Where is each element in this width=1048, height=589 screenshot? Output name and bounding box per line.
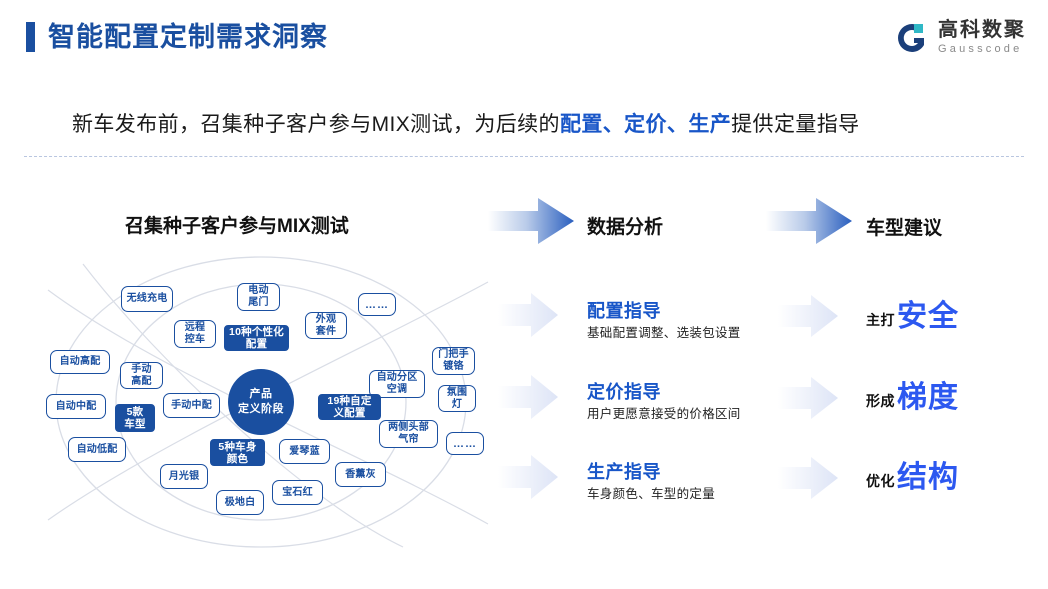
analysis-sub-2: 用户更愿意接受的价格区间 [587, 405, 741, 423]
diagram-node: 19种自定义配置 [318, 394, 381, 420]
diagram-node: 10种个性化配置 [224, 325, 289, 351]
suggestion-prefix-1: 主打 [866, 310, 895, 330]
diagram-node-line: 自动低配 [77, 444, 118, 456]
suggestion-prefix-2: 形成 [866, 391, 895, 411]
analysis-title-3: 生产指导 [587, 461, 715, 483]
diagram-center-node: 产品 定义阶段 [228, 369, 294, 435]
diagram-node: 自动中配 [46, 394, 106, 419]
subtitle-part1: 新车发布前，召集种子客户参与MIX测试，为后续的 [72, 113, 560, 136]
diagram-node-line: 自动高配 [60, 356, 101, 368]
subtitle: 新车发布前，召集种子客户参与MIX测试，为后续的配置、定价、生产提供定量指导 [72, 108, 860, 138]
diagram-node: 手动中配 [163, 393, 220, 418]
flow-arrow-right-1-icon [778, 292, 838, 340]
diagram-node-line: 手动 [131, 364, 151, 376]
diagram-node: 5款车型 [115, 404, 155, 432]
diagram-node-line: 5种车身 [218, 441, 256, 453]
suggestion-block-1: 主打 安全 [866, 300, 959, 333]
diagram-node: 门把手镀铬 [432, 347, 475, 375]
diagram-node-line: 义配置 [333, 407, 365, 419]
diagram-node-line: 电动 [248, 285, 268, 297]
diagram-node-line: 10种个性化 [229, 326, 284, 338]
diagram-node: 氛围灯 [438, 385, 476, 412]
diagram-node: 两侧头部气帘 [379, 420, 438, 448]
column-header-data-analysis: 数据分析 [587, 212, 663, 239]
diagram-node: …… [446, 432, 484, 455]
center-line-1: 产品 [250, 387, 273, 402]
diagram-node-line: 无线充电 [127, 293, 168, 305]
title-text: 智能配置定制需求洞察 [48, 22, 328, 52]
subtitle-highlight: 配置、定价、生产 [560, 113, 731, 136]
diagram-node-line: 高配 [131, 376, 151, 388]
diagram-node-line: 灯 [452, 399, 462, 411]
diagram-node-line: 爱琴蓝 [289, 446, 320, 458]
diagram-node: 自动低配 [68, 437, 126, 462]
diagram-node-line: 香薰灰 [345, 469, 376, 481]
column-header-mix-test: 召集种子客户参与MIX测试 [125, 211, 349, 238]
diagram-node-line: 尾门 [248, 297, 268, 309]
subtitle-part2: 提供定量指导 [731, 113, 859, 136]
diagram-node-line: 自动分区 [377, 372, 418, 384]
diagram-node-line: 套件 [316, 326, 336, 338]
logo-en-text: Gausscode [938, 42, 1026, 56]
diagram-node: 月光银 [160, 464, 208, 489]
diagram-node-line: 颜色 [227, 453, 248, 465]
header-arrow-2-icon [766, 196, 852, 246]
suggestion-prefix-3: 优化 [866, 471, 895, 491]
diagram-node: 爱琴蓝 [279, 439, 330, 464]
diagram-node-line: 外观 [316, 314, 336, 326]
gausscode-mark-icon [894, 20, 930, 56]
title-accent-bar [26, 22, 35, 52]
diagram-node: 5种车身颜色 [210, 439, 265, 466]
suggestion-word-3: 结构 [897, 461, 959, 494]
diagram-node: 宝石红 [272, 480, 323, 505]
diagram-node-line: 配置 [246, 338, 267, 350]
slide-root: 智能配置定制需求洞察 高科数聚 Gausscode 新车发布前，召集种子客户参与… [0, 0, 1048, 589]
diagram-node: 无线充电 [121, 286, 173, 312]
diagram-node-line: 宝石红 [282, 487, 313, 499]
diagram-node-line: 气帘 [398, 434, 418, 446]
diagram-node: 远程控车 [174, 320, 216, 348]
diagram-node: 自动高配 [50, 350, 110, 374]
analysis-block-1: 配置指导 基础配置调整、选装包设置 [587, 300, 741, 342]
flow-arrow-right-3-icon [778, 454, 838, 502]
suggestion-word-1: 安全 [897, 300, 959, 333]
analysis-block-2: 定价指导 用户更愿意接受的价格区间 [587, 381, 741, 423]
analysis-sub-1: 基础配置调整、选装包设置 [587, 324, 741, 342]
diagram-node: 电动尾门 [237, 283, 280, 311]
diagram-node: 手动高配 [120, 362, 163, 389]
brand-logo: 高科数聚 Gausscode [894, 20, 1026, 56]
diagram-node-line: 远程 [185, 322, 205, 334]
logo-cn-text: 高科数聚 [938, 20, 1026, 41]
diagram-node-line: 空调 [387, 384, 407, 396]
diagram-node-line: 氛围 [447, 387, 467, 399]
diagram-node-line: 极地白 [225, 497, 256, 509]
diagram-node-line: 19种自定 [327, 395, 371, 407]
center-line-2: 定义阶段 [238, 402, 284, 417]
diagram-node-line: 两侧头部 [388, 422, 429, 434]
diagram-node-line: 车型 [124, 418, 145, 430]
diagram-node: 外观套件 [305, 312, 347, 339]
diagram-node-line: 门把手 [438, 349, 469, 361]
diagram-node-line: …… [453, 438, 477, 450]
analysis-block-3: 生产指导 车身颜色、车型的定量 [587, 461, 715, 503]
diagram-node-line: 自动中配 [56, 401, 97, 413]
flow-arrow-right-2-icon [778, 374, 838, 422]
diagram-node-line: 月光银 [169, 471, 200, 483]
diagram-node: …… [358, 293, 396, 316]
diagram-node: 香薰灰 [335, 462, 386, 487]
suggestion-block-3: 优化 结构 [866, 461, 959, 494]
diagram-node: 极地白 [216, 490, 264, 515]
diagram-node-line: 控车 [185, 334, 205, 346]
diagram-node-line: 5款 [127, 406, 144, 418]
diagram-node-line: 手动中配 [171, 400, 212, 412]
page-title: 智能配置定制需求洞察 [26, 22, 328, 52]
analysis-title-2: 定价指导 [587, 381, 741, 403]
product-definition-diagram: 产品 定义阶段 无线充电电动尾门……远程控车外观套件10种个性化配置自动高配手动… [8, 252, 518, 552]
diagram-node-line: 镀铬 [443, 361, 463, 373]
analysis-sub-3: 车身颜色、车型的定量 [587, 485, 715, 503]
column-header-model-suggestion: 车型建议 [866, 213, 942, 240]
section-divider [24, 156, 1024, 157]
header-arrow-1-icon [488, 196, 574, 246]
suggestion-block-2: 形成 梯度 [866, 381, 959, 414]
analysis-title-1: 配置指导 [587, 300, 741, 322]
suggestion-word-2: 梯度 [897, 381, 959, 414]
diagram-node-line: …… [365, 299, 389, 311]
